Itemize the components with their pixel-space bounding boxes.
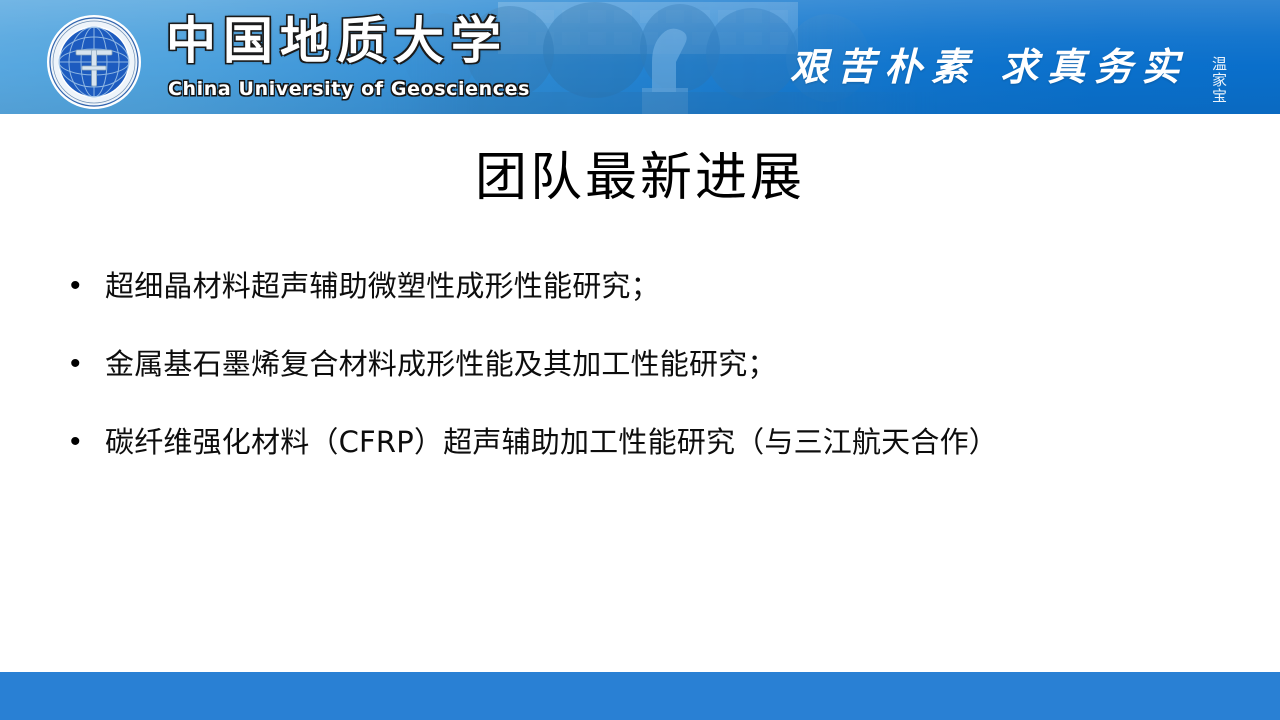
bullet-list: • 超细晶材料超声辅助微塑性成形性能研究； • 金属基石墨烯复合材料成形性能及其… (62, 262, 1252, 466)
university-name-chinese: 中国地质大学 (166, 16, 508, 66)
list-item: • 金属基石墨烯复合材料成形性能及其加工性能研究； (62, 340, 1252, 388)
university-emblem-icon (46, 14, 142, 110)
list-item: • 碳纤维强化材料（CFRP）超声辅助加工性能研究（与三江航天合作） (62, 418, 1252, 466)
list-item-text: 碳纤维强化材料（CFRP）超声辅助加工性能研究（与三江航天合作） (105, 418, 1252, 466)
university-name-english: China University of Geosciences (168, 80, 530, 99)
bullet-marker-icon: • (62, 262, 105, 310)
list-item-text: 金属基石墨烯复合材料成形性能及其加工性能研究； (105, 340, 1252, 388)
motto-signature: 温家宝 (1206, 56, 1226, 104)
slide-canvas: 中国地质大学 China University of Geosciences 艰… (0, 0, 1280, 720)
list-item: • 超细晶材料超声辅助微塑性成形性能研究； (62, 262, 1252, 310)
page-title: 团队最新进展 (0, 149, 1280, 207)
bullet-marker-icon: • (62, 418, 105, 466)
footer-bar (0, 672, 1280, 720)
university-motto: 艰苦朴素 求真务实 (790, 48, 1188, 86)
header-banner: 中国地质大学 China University of Geosciences 艰… (0, 0, 1280, 114)
bullet-marker-icon: • (62, 340, 105, 388)
list-item-text: 超细晶材料超声辅助微塑性成形性能研究； (105, 262, 1252, 310)
